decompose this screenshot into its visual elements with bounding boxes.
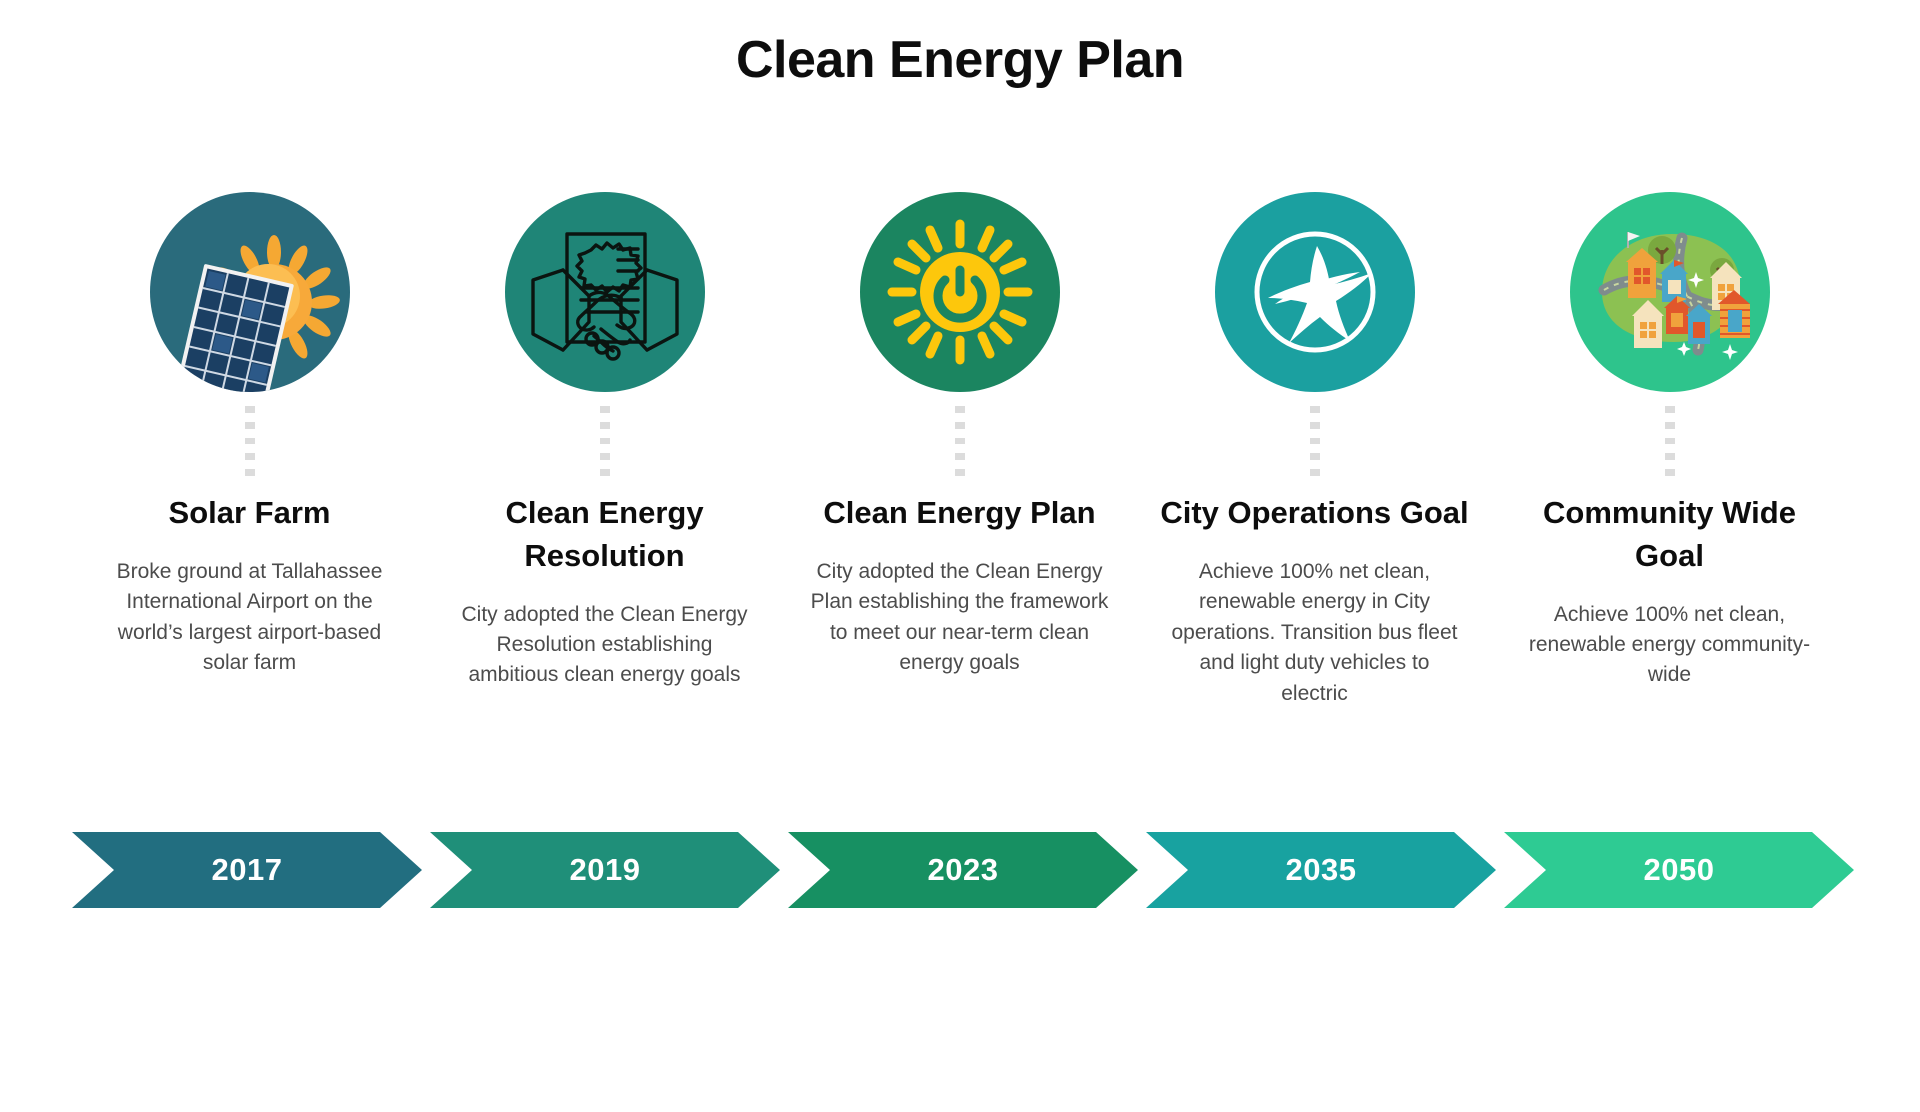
page-title: Clean Energy Plan: [0, 32, 1920, 89]
dot: [245, 453, 255, 460]
dot: [1665, 453, 1675, 460]
year-chevron-2017[interactable]: 2017: [72, 832, 422, 908]
connector-dots-3: [955, 406, 965, 476]
star-badge-icon: [1215, 192, 1415, 392]
dot: [955, 422, 965, 429]
year-label: 2019: [570, 852, 641, 888]
milestone-column-4: City Operations Goal Achieve 100% net cl…: [1137, 192, 1492, 709]
dot: [245, 422, 255, 429]
milestone-column-1: Solar Farm Broke ground at Tallahassee I…: [72, 192, 427, 709]
dot: [955, 469, 965, 476]
dot: [1665, 469, 1675, 476]
milestone-body-4: Achieve 100% net clean, renewable energy…: [1165, 557, 1465, 709]
year-chevron-2019[interactable]: 2019: [430, 832, 780, 908]
dot: [1665, 406, 1675, 413]
year-label: 2035: [1286, 852, 1357, 888]
milestone-icon-circle-1: [150, 192, 350, 392]
dot: [1310, 453, 1320, 460]
milestone-title-4: City Operations Goal: [1160, 492, 1468, 535]
sun-power-icon: [860, 192, 1060, 392]
year-chevron-2035[interactable]: 2035: [1146, 832, 1496, 908]
community-village-icon: [1570, 192, 1770, 392]
dot: [955, 406, 965, 413]
milestone-icon-circle-2: [505, 192, 705, 392]
handshake-certificate-icon: [505, 192, 705, 392]
solar-panel-sun-icon: [150, 192, 350, 392]
timeline-columns: Solar Farm Broke ground at Tallahassee I…: [72, 192, 1848, 709]
dot: [1665, 422, 1675, 429]
milestone-column-2: Clean Energy Resolution City adopted the…: [427, 192, 782, 709]
connector-dots-2: [600, 406, 610, 476]
connector-dots-5: [1665, 406, 1675, 476]
dot: [1310, 438, 1320, 445]
year-label: 2023: [928, 852, 999, 888]
milestone-body-5: Achieve 100% net clean, renewable energy…: [1520, 600, 1820, 691]
milestone-body-1: Broke ground at Tallahassee Internationa…: [100, 557, 400, 679]
milestone-title-1: Solar Farm: [169, 492, 331, 535]
milestone-title-5: Community Wide Goal: [1510, 492, 1830, 578]
milestone-title-2: Clean Energy Resolution: [445, 492, 765, 578]
dot: [600, 469, 610, 476]
milestone-icon-circle-3: [860, 192, 1060, 392]
year-chevron-bar: 2017 2019 2023 2035 2050: [0, 832, 1920, 908]
milestone-icon-circle-4: [1215, 192, 1415, 392]
dot: [1310, 422, 1320, 429]
year-label: 2050: [1644, 852, 1715, 888]
dot: [1665, 438, 1675, 445]
dot: [600, 438, 610, 445]
year-chevron-2050[interactable]: 2050: [1504, 832, 1854, 908]
dot: [1310, 469, 1320, 476]
dot: [955, 453, 965, 460]
milestone-body-3: City adopted the Clean Energy Plan estab…: [810, 557, 1110, 679]
connector-dots-4: [1310, 406, 1320, 476]
dot: [1310, 406, 1320, 413]
year-chevron-2023[interactable]: 2023: [788, 832, 1138, 908]
year-label: 2017: [212, 852, 283, 888]
dot: [955, 438, 965, 445]
connector-dots-1: [245, 406, 255, 476]
dot: [245, 438, 255, 445]
dot: [600, 422, 610, 429]
milestone-column-5: Community Wide Goal Achieve 100% net cle…: [1492, 192, 1847, 709]
milestone-title-3: Clean Energy Plan: [823, 492, 1095, 535]
milestone-column-3: Clean Energy Plan City adopted the Clean…: [782, 192, 1137, 709]
dot: [600, 406, 610, 413]
dot: [245, 406, 255, 413]
milestone-icon-circle-5: [1570, 192, 1770, 392]
dot: [600, 453, 610, 460]
dot: [245, 469, 255, 476]
milestone-body-2: City adopted the Clean Energy Resolution…: [455, 600, 755, 691]
